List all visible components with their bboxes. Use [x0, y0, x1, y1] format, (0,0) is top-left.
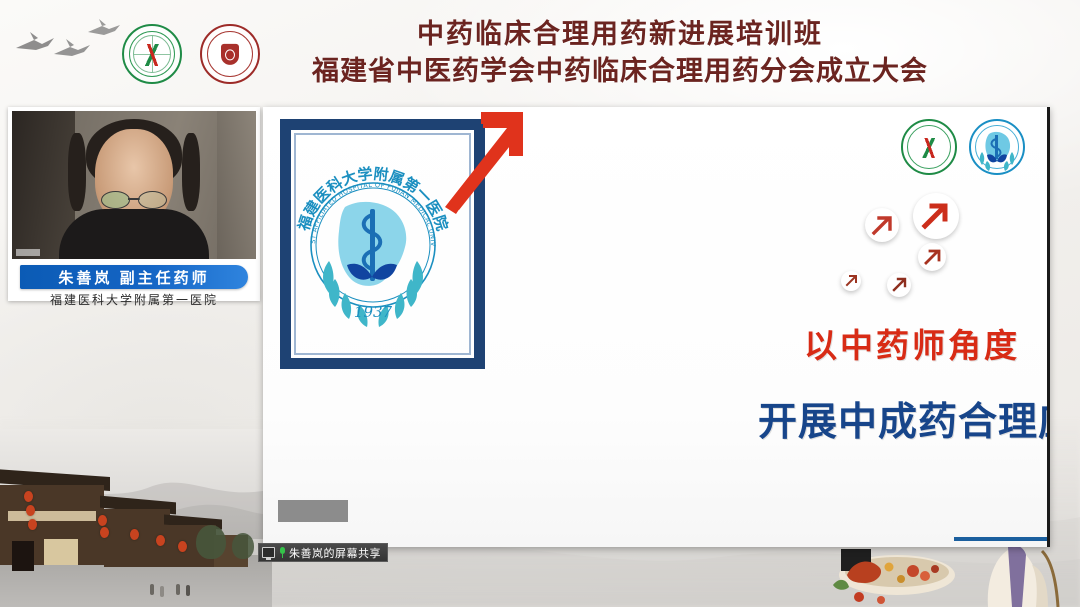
shared-screen-slide[interactable]: 福建医科大学附属第一医院 THE FIRST AFFILIATED HOSPIT… [263, 107, 1050, 547]
speaker-name-banner: 朱善岚 副主任药师 [20, 265, 248, 289]
meeting-screen: 中药临床合理用药新进展培训班 福建省中医药学会中药临床合理用药分会成立大会 朱善… [0, 0, 1080, 607]
video-corner-badge [16, 249, 40, 256]
speaker-video-tile[interactable]: 朱善岚 副主任药师 福建医科大学附属第一医院 [8, 107, 260, 301]
slide-hospital-seal-icon [969, 119, 1025, 175]
speaker-torso [59, 209, 209, 259]
arrow-bubble-small [918, 243, 946, 271]
screen-share-status-label: 朱善岚的屏幕共享 [258, 543, 388, 562]
speaker-org-label: 福建医科大学附属第一医院 [8, 291, 260, 308]
herbal-medicine-bowl-illustration [829, 545, 965, 607]
screen-share-text: 朱善岚的屏幕共享 [289, 545, 381, 561]
tcm-association-seal-icon [122, 24, 182, 84]
microphone-icon [278, 547, 286, 558]
arrow-bubble-tiny-right [887, 273, 911, 297]
slide-gray-placeholder [278, 500, 348, 522]
arrow-bubble-large [913, 193, 959, 239]
large-red-arrow-icon [423, 107, 533, 217]
header-logo-group [122, 24, 260, 84]
flying-cranes-icon [8, 14, 138, 76]
robed-figure-illustration [970, 537, 1062, 607]
monitor-icon [262, 547, 275, 558]
eyeglasses-icon [101, 191, 167, 208]
slide-title-blue: 开展中成药合理应用的相关服务 [758, 391, 1050, 447]
logo-year-text: 1937 [354, 303, 393, 321]
event-title-line1: 中药临床合理用药新进展培训班 [270, 18, 970, 52]
hospital-red-seal-icon [200, 24, 260, 84]
arrow-bubble-tiny-left [841, 271, 861, 291]
slide-logo-group [901, 119, 1025, 175]
speaker-video-feed [12, 111, 256, 259]
slide-tcm-association-seal-icon [901, 119, 957, 175]
old-street-photo [0, 429, 272, 607]
slide-title-red: 以中药师角度 [804, 319, 1020, 367]
event-title-line2: 福建省中医药学会中药临床合理用药分会成立大会 [270, 54, 970, 89]
presenter-divider [954, 537, 1050, 541]
arrow-bubble-medium [865, 208, 899, 242]
event-title: 中药临床合理用药新进展培训班 福建省中医药学会中药临床合理用药分会成立大会 [270, 18, 970, 89]
